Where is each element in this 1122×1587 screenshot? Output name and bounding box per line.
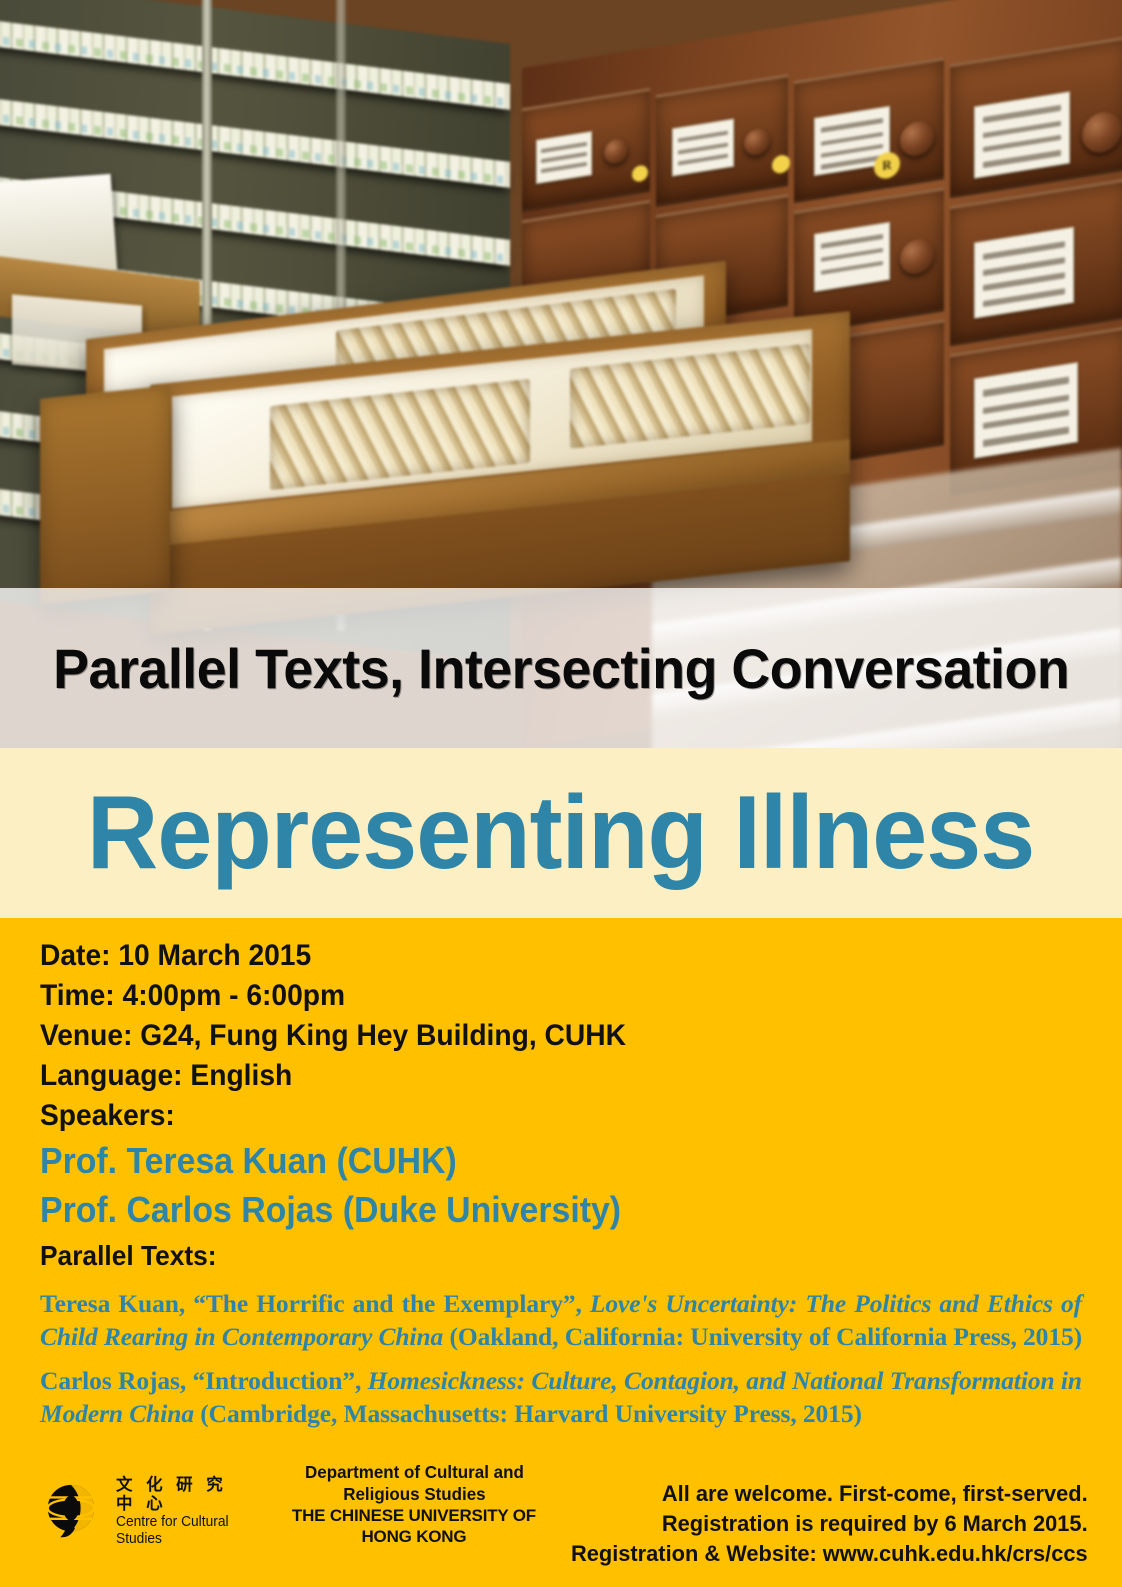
detail-speakers-label: Speakers: [40,1096,1019,1136]
citation-2-publication: (Cambridge, Massachusetts: Harvard Unive… [200,1399,862,1428]
centre-for-cultural-studies-logo-icon [40,1481,102,1543]
logo-name-en: Centre for Cultural Studies [116,1514,238,1549]
organizer-block: 文 化 研 究 中 心 Centre for Cultural Studies … [40,1461,555,1577]
registration-line-2: Registration is required by 6 March 2015… [571,1509,1088,1539]
detail-language: Language: English [40,1056,1019,1096]
series-title-band: Parallel Texts, Intersecting Conversatio… [0,588,1122,748]
poster-footer: 文 化 研 究 中 心 Centre for Cultural Studies … [0,1487,1122,1587]
detail-date: Date: 10 March 2015 [40,936,1019,976]
registration-block: All are welcome. First-come, first-serve… [571,1479,1088,1577]
registration-line-1: All are welcome. First-come, first-serve… [571,1479,1088,1509]
citation-2-chapter: “Introduction”, [192,1366,361,1395]
drawer-label [974,91,1070,178]
event-poster: R [0,0,1122,1587]
citation-2: Carlos Rojas, “Introduction”, Homesickne… [40,1364,1082,1430]
university-name: THE CHINESE UNIVERSITY OF HONG KONG [273,1505,556,1547]
detail-time: Time: 4:00pm - 6:00pm [40,976,1019,1016]
citation-1-author: Teresa Kuan, [40,1289,185,1318]
citation-2-author: Carlos Rojas, [40,1366,186,1395]
event-title-band: Representing Illness [0,748,1122,918]
registration-line-3[interactable]: Registration & Website: www.cuhk.edu.hk/… [571,1539,1088,1569]
drawer-label [974,362,1078,458]
open-drawer-side [40,385,170,605]
series-title: Parallel Texts, Intersecting Conversatio… [53,636,1069,701]
department-block: Department of Cultural and Religious Stu… [273,1461,556,1563]
drawer-label [974,227,1074,319]
parallel-texts-label: Parallel Texts: [40,1236,1019,1276]
event-title: Representing Illness [87,781,1034,885]
citation-1-chapter: “The Horrific and the Exemplary”, [193,1289,582,1318]
speaker-2: Prof. Carlos Rojas (Duke University) [40,1185,1019,1234]
detail-venue: Venue: G24, Fung King Hey Building, CUHK [40,1016,1019,1056]
drawer-label [672,119,734,177]
drawer-label [814,222,890,292]
department-name: Department of Cultural and Religious Stu… [277,1461,551,1505]
citation-1: Teresa Kuan, “The Horrific and the Exemp… [40,1287,1082,1353]
speaker-1: Prof. Teresa Kuan (CUHK) [40,1136,1019,1185]
citation-1-publication: (Oakland, California: University of Cali… [449,1322,1082,1351]
logo-name-zh: 文 化 研 究 中 心 [116,1476,245,1514]
drawer-label [536,131,592,184]
